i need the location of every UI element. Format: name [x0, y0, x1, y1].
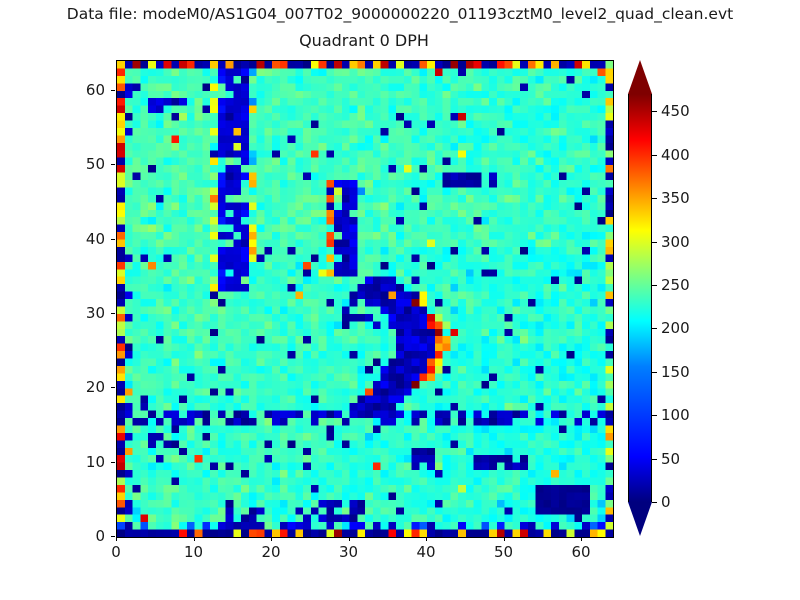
colorbar-extend-min-arrow-icon: [628, 502, 652, 536]
colorbar-tick-mark: [652, 111, 657, 112]
colorbar-tick-label: 450: [661, 102, 690, 120]
colorbar-tick-mark: [652, 155, 657, 156]
colorbar-tick-label: 200: [661, 319, 690, 337]
colorbar-tick-label: 300: [661, 233, 690, 251]
x-tick-label: 40: [416, 543, 435, 561]
x-tick-mark: [349, 537, 350, 541]
colorbar-tick-mark: [652, 285, 657, 286]
figure-canvas: Data file: modeM0/AS1G04_007T02_90000002…: [0, 0, 800, 600]
colorbar-tick-label: 100: [661, 406, 690, 424]
colorbar-tick-label: 400: [661, 146, 690, 164]
x-tick-mark: [504, 537, 505, 541]
x-tick-mark: [194, 537, 195, 541]
x-tick-label: 60: [571, 543, 590, 561]
colorbar-gradient: [628, 94, 652, 502]
colorbar-tick-mark: [652, 502, 657, 503]
x-tick-label: 50: [494, 543, 513, 561]
y-tick-mark: [111, 387, 115, 388]
y-tick-mark: [111, 536, 115, 537]
y-tick-label: 40: [0, 230, 105, 248]
y-tick-mark: [111, 313, 115, 314]
heatmap-image: [117, 61, 613, 537]
x-tick-label: 20: [261, 543, 280, 561]
colorbar-tick-mark: [652, 372, 657, 373]
y-tick-mark: [111, 462, 115, 463]
y-tick-label: 50: [0, 155, 105, 173]
y-tick-label: 20: [0, 378, 105, 396]
y-tick-label: 10: [0, 453, 105, 471]
colorbar-tick-mark: [652, 328, 657, 329]
y-tick-mark: [111, 239, 115, 240]
page-title: Quadrant 0 DPH: [116, 31, 612, 50]
colorbar-tick-mark: [652, 242, 657, 243]
x-tick-mark: [116, 537, 117, 541]
colorbar-extend-max-arrow-icon: [628, 60, 652, 94]
heatmap-axes: [116, 60, 614, 538]
y-tick-label: 60: [0, 81, 105, 99]
x-tick-mark: [271, 537, 272, 541]
x-tick-mark: [581, 537, 582, 541]
x-tick-label: 10: [184, 543, 203, 561]
x-tick-label: 30: [339, 543, 358, 561]
colorbar-tick-label: 350: [661, 189, 690, 207]
y-tick-mark: [111, 164, 115, 165]
colorbar-tick-label: 250: [661, 276, 690, 294]
colorbar-tick-label: 0: [661, 493, 671, 511]
y-tick-label: 30: [0, 304, 105, 322]
y-tick-label: 0: [0, 527, 105, 545]
colorbar-tick-label: 150: [661, 363, 690, 381]
colorbar-tick-mark: [652, 459, 657, 460]
x-tick-label: 0: [111, 543, 121, 561]
colorbar-tick-mark: [652, 415, 657, 416]
y-tick-mark: [111, 90, 115, 91]
colorbar-tick-label: 50: [661, 450, 680, 468]
data-file-suptitle: Data file: modeM0/AS1G04_007T02_90000002…: [0, 5, 800, 23]
x-tick-mark: [426, 537, 427, 541]
colorbar: 050100150200250300350400450: [628, 60, 652, 536]
colorbar-tick-mark: [652, 198, 657, 199]
